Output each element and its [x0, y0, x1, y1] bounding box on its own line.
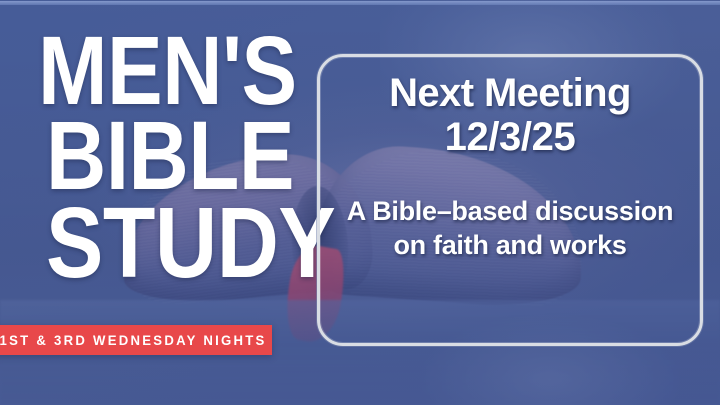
schedule-banner-text: 1ST & 3RD WEDNESDAY NIGHTS — [0, 332, 267, 348]
next-meeting-panel: Next Meeting 12/3/25 A Bible–based discu… — [317, 54, 703, 346]
headline-line-2: BIBLE — [46, 115, 259, 196]
headline-block: MEN'S BIBLE STUDY — [34, 30, 294, 285]
schedule-banner: 1ST & 3RD WEDNESDAY NIGHTS — [0, 325, 272, 355]
slide-canvas: MEN'S BIBLE STUDY 1ST & 3RD WEDNESDAY NI… — [0, 0, 720, 405]
panel-title: Next Meeting — [389, 73, 631, 115]
top-edge-highlight-band — [0, 1, 720, 5]
panel-meeting-date: 12/3/25 — [445, 117, 576, 159]
headline-line-3: STUDY — [46, 201, 259, 285]
headline-line-1: MEN'S — [38, 30, 258, 111]
panel-description: A Bible–based discussion on faith and wo… — [320, 194, 700, 262]
